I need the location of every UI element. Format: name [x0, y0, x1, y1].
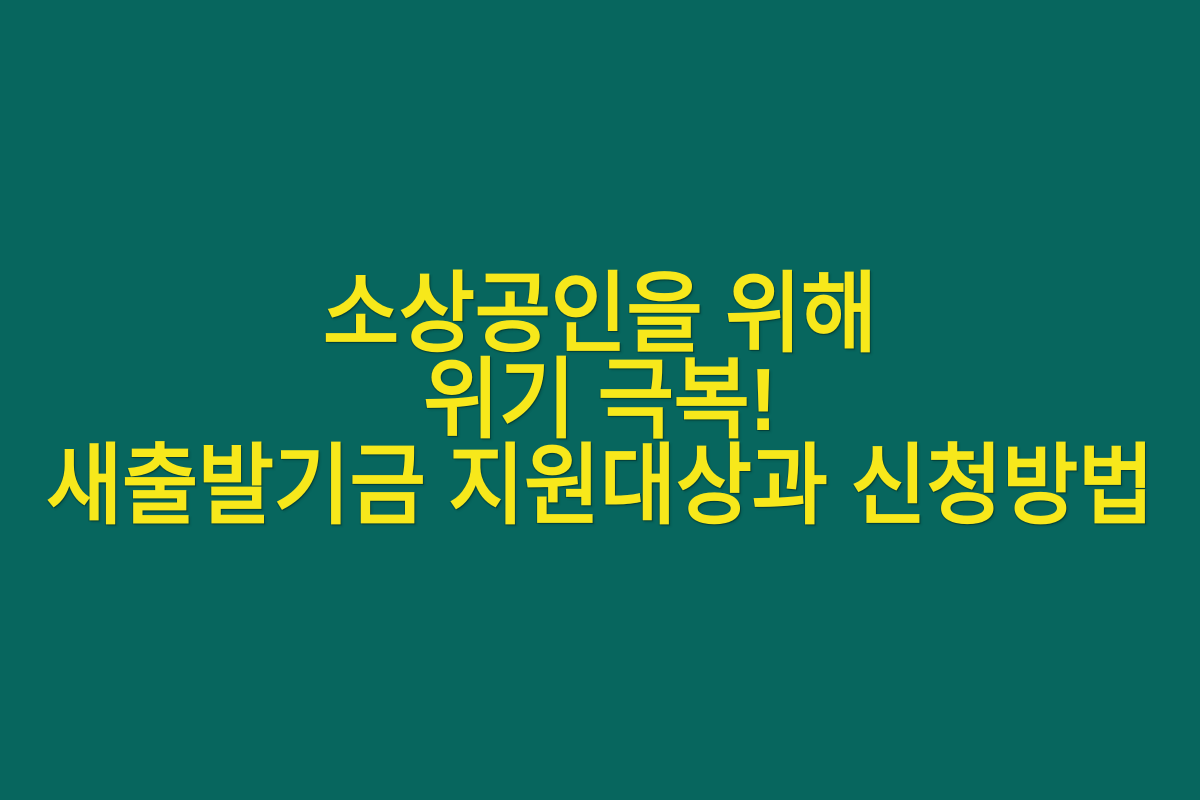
- headline-line-3: 새출발기금 지원대상과 신청방법: [36, 443, 1164, 529]
- headline-line-2: 위기 극복!: [36, 357, 1164, 443]
- promo-banner: 소상공인을 위해 위기 극복! 새출발기금 지원대상과 신청방법: [0, 0, 1200, 800]
- headline-text-block: 소상공인을 위해 위기 극복! 새출발기금 지원대상과 신청방법: [36, 271, 1164, 530]
- headline-line-1: 소상공인을 위해: [36, 271, 1164, 357]
